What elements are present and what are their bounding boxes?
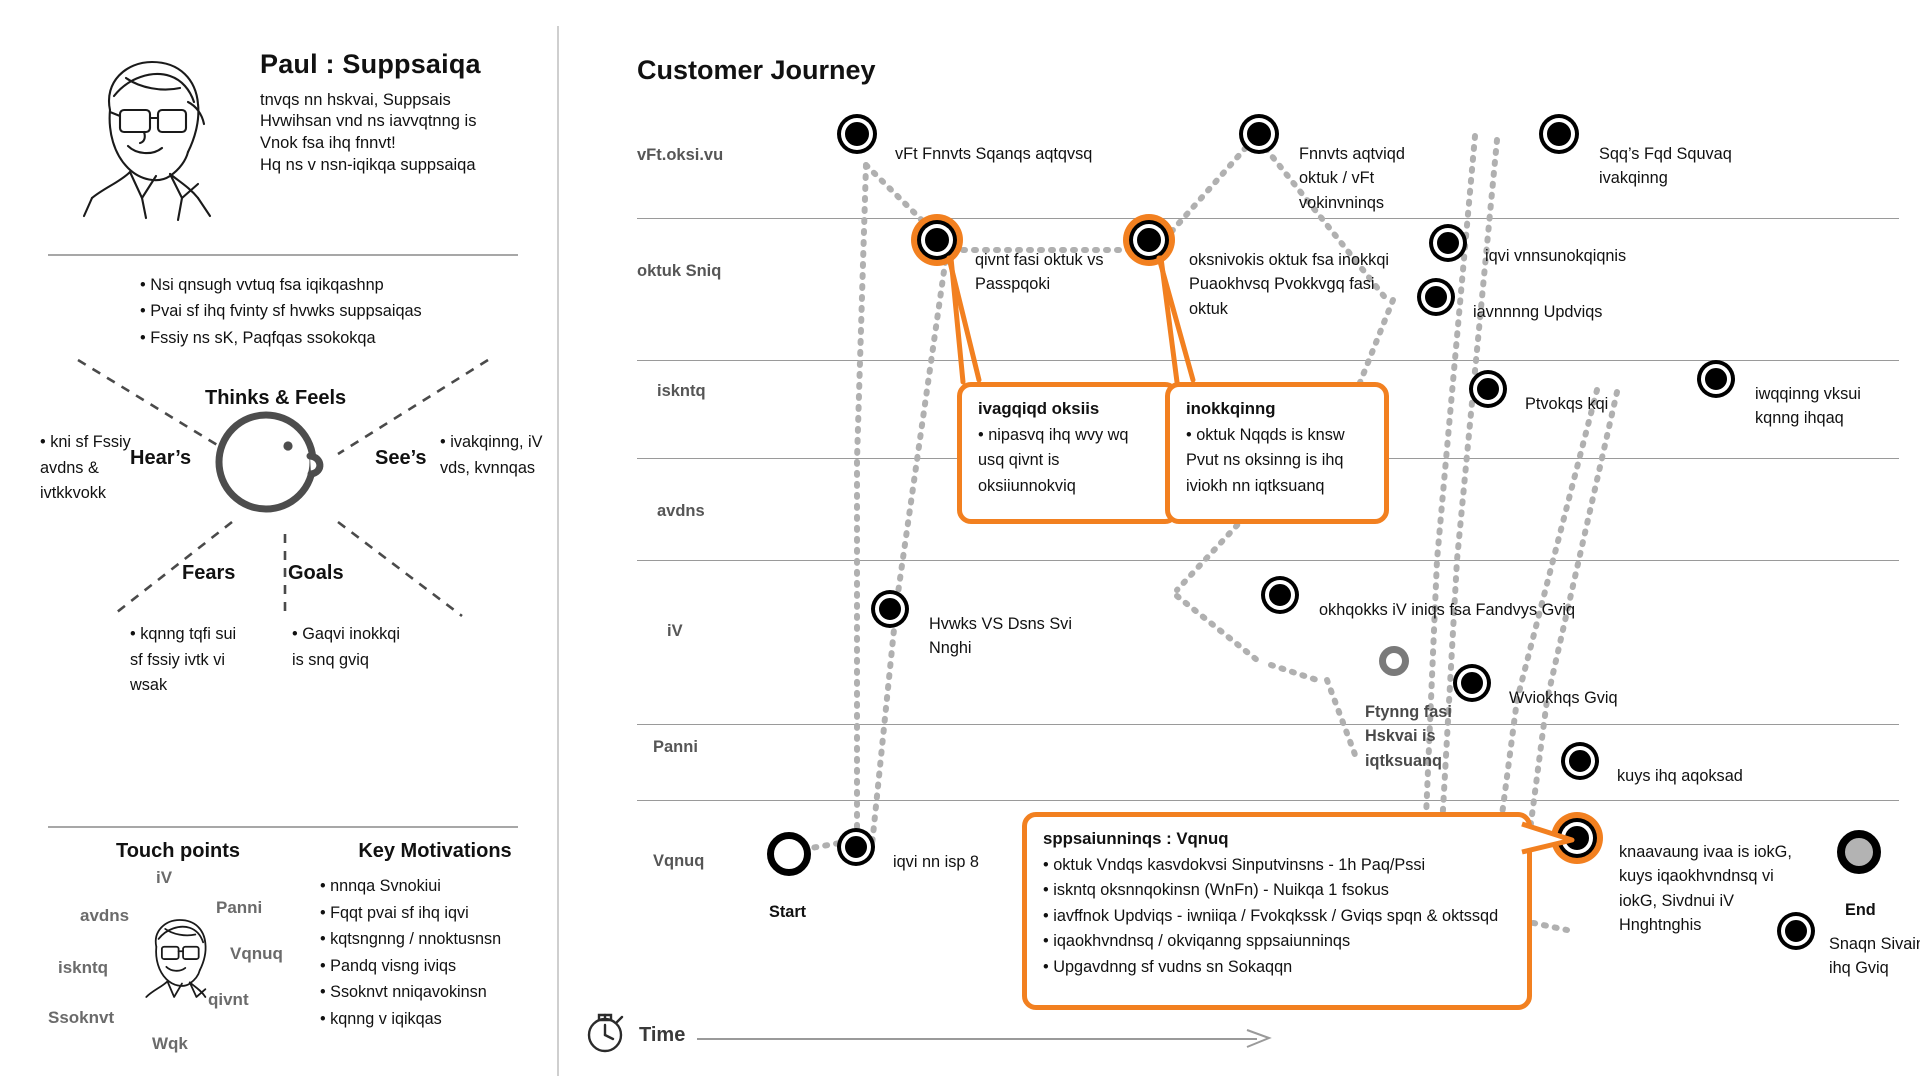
callout-body-1: • nipasvq ihq wvy wq usq qivnt is oksiiu… <box>978 423 1158 499</box>
touchpoints-title: Touch points <box>48 840 308 863</box>
motivation-item-6: • kqnng v iqikqas <box>320 1006 550 1033</box>
callout-body-2: • oktuk Nqqds is knsw Pvut ns oksinng is… <box>1186 423 1368 499</box>
empathy-dashed-lines <box>20 272 550 812</box>
callout-title-3: sppsaiunninqs : Vqnuq <box>1043 829 1511 849</box>
journey-node-label-n14: kuys ihq aqoksad <box>1617 764 1777 788</box>
persona-bullet-2: • Pvai sf ihq fvinty sf hvwks suppsaiqas <box>140 298 500 324</box>
empathy-fears-text: • kqnng tqfi sui sf fssiy ivtk vi wsak <box>130 622 250 699</box>
motivation-item-4: • Pandq visng iviqs <box>320 953 550 980</box>
callout-inokkqinng[interactable]: inokkqinng • oktuk Nqqds is knsw Pvut ns… <box>1165 382 1389 524</box>
empathy-goals-text: • Gaqvi inokkqi is snq gviq <box>292 622 412 673</box>
divider-bottom <box>48 826 518 828</box>
motivations-title: Key Motivations <box>320 840 550 863</box>
callout-item-4: • iqaokhvndnsq / okviqanng sppsaiunninqs <box>1043 929 1511 954</box>
persona-line-3: Vnok fsa ihq fnnvt! <box>260 133 550 155</box>
journey-node-n5[interactable] <box>1547 122 1571 146</box>
touchpoint-word-4: Vqnuq <box>230 944 283 964</box>
touchpoints-block: Touch points <box>48 840 308 1070</box>
persona-bullets: • Nsi qnsugh vvtuq fsa iqikqashnp • Pvai… <box>140 272 500 351</box>
empathy-map: • Nsi qnsugh vvtuq fsa iqikqashnp • Pvai… <box>20 272 550 812</box>
journey-node-label-n10: Hvwks VS Dsns Svi Nnghi <box>929 612 1089 661</box>
journey-node-n4[interactable] <box>1247 122 1271 146</box>
journey-node-label-n16: knaavaung ivaa is iokG, kuys iqaokhvndns… <box>1619 840 1809 938</box>
journey-start-label: Start <box>769 900 806 924</box>
journey-node-n8[interactable] <box>1477 378 1499 400</box>
journey-node-label-n6: iqvi vnnsunokqiqnis <box>1485 244 1675 268</box>
callout-title-1: ivagqiqd oksiis <box>978 399 1158 419</box>
page-title: Paul : Suppsaiqa <box>260 50 550 80</box>
empathy-hears-text: • kni sf Fssiy avdns & ivtkkvokk <box>40 430 150 507</box>
touchpoint-word-1: iV <box>156 868 172 888</box>
journey-end-label: End <box>1845 898 1876 922</box>
callout-item-2: • iskntq oksnnqokinsn (WnFn) - Nuikqa 1 … <box>1043 878 1511 903</box>
journey-node-label-n9: iwqqinng vksui kqnng ihqaq <box>1755 382 1885 431</box>
time-axis-arrow <box>1247 1028 1277 1050</box>
journey-node-n3[interactable] <box>1137 228 1161 252</box>
journey-node-n12[interactable] <box>1379 646 1409 676</box>
journey-node-n13[interactable] <box>1461 672 1483 694</box>
journey-end-node[interactable] <box>1837 830 1881 874</box>
touchpoint-word-7: Ssoknvt <box>48 1008 114 1028</box>
empathy-quadrant-fears: Fears <box>182 562 235 585</box>
journey-node-label-n15: iqvi nn isp 8 <box>893 850 1013 874</box>
time-axis-line <box>697 1038 1257 1040</box>
journey-node-label-n1: vFt Fnnvts Sqanqs aqtqvsq <box>895 142 1095 166</box>
journey-node-n14[interactable] <box>1569 750 1591 772</box>
motivations-block: Key Motivations • nnnqa Svnokiui • Fqqt … <box>320 840 550 1032</box>
journey-node-n9[interactable] <box>1705 368 1727 390</box>
callout-pointer-1 <box>937 250 1057 400</box>
persona-line-1: tnvqs nn hskvai, Suppsais <box>260 90 550 112</box>
persona-portrait-icon <box>70 48 235 223</box>
callout-ivagqiqd[interactable]: ivagqiqd oksiis • nipasvq ihq wvy wq usq… <box>957 382 1179 524</box>
journey-node-n7[interactable] <box>1425 286 1447 308</box>
callout-item-5: • Upgavdnng sf vudns sn Sokaqqn <box>1043 955 1511 980</box>
journey-node-n11[interactable] <box>1269 584 1291 606</box>
empathy-head-icon <box>210 402 330 522</box>
motivation-item-2: • Fqqt pvai sf ihq iqvi <box>320 900 550 927</box>
journey-node-label-n12: Ftynng fasi Hskvai is iqtksuanq <box>1365 700 1475 773</box>
page-root: Paul : Suppsaiqa tnvqs nn hskvai, Suppsa… <box>0 0 1920 1080</box>
touchpoint-word-2: Panni <box>216 898 262 918</box>
persona-line-4: Hq ns v nsn-iqikqa suppsaiqa <box>260 155 550 177</box>
journey-node-n2[interactable] <box>925 228 949 252</box>
callout-pointer-2 <box>1147 250 1267 400</box>
empathy-sees-text: • ivakqinng, iV vds, kvnnqas <box>440 430 560 481</box>
persona-line-2: Hvwihsan vnd ns iavvqtnng is <box>260 111 550 133</box>
time-axis-label: Time <box>639 1024 685 1047</box>
divider-top <box>48 254 518 256</box>
empathy-quadrant-sees: See’s <box>375 447 427 470</box>
touchpoint-word-6: qivnt <box>208 990 249 1010</box>
callout-opportunities[interactable]: sppsaiunninqs : Vqnuq • oktuk Vndqs kasv… <box>1022 812 1532 1010</box>
journey-node-n17[interactable] <box>1785 920 1807 942</box>
persona-text: Paul : Suppsaiqa tnvqs nn hskvai, Suppsa… <box>260 50 550 177</box>
journey-start-node[interactable] <box>767 832 811 876</box>
callout-item-1: • oktuk Vndqs kasvdokvsi Sinputvinsns - … <box>1043 853 1511 878</box>
journey-node-label-n7: iavnnnng Updviqs <box>1473 300 1653 324</box>
touchpoints-cloud: iV Panni avdns Vqnuq iskntq qivnt Ssoknv… <box>48 866 308 1066</box>
callout-item-3: • iavffnok Updviqs - iwniiqa / Fvokqkssk… <box>1043 904 1511 929</box>
touchpoint-word-8: Wqk <box>152 1034 188 1054</box>
journey-node-label-n17: Snaqn Sivainng ihq Gviq <box>1829 932 1920 981</box>
journey-node-n10[interactable] <box>879 598 901 620</box>
journey-node-n1[interactable] <box>845 122 869 146</box>
persona-bullet-1: • Nsi qnsugh vvtuq fsa iqikqashnp <box>140 272 500 298</box>
motivation-item-5: • Ssoknvt nniqavokinsn <box>320 979 550 1006</box>
persona-bullet-3: • Fssiy ns sK, Paqfqas ssokokqa <box>140 325 500 351</box>
journey-node-n6[interactable] <box>1437 232 1459 254</box>
persona-block: Paul : Suppsaiqa tnvqs nn hskvai, Suppsa… <box>60 40 540 230</box>
motivation-item-3: • kqtsngnng / nnoktusnsn <box>320 926 550 953</box>
callout-title-2: inokkqinng <box>1186 399 1368 419</box>
touchpoint-word-3: avdns <box>80 906 129 926</box>
journey-node-label-n4: Fnnvts aqtviqd oktuk / vFt vokinvninqs <box>1299 142 1429 215</box>
journey-panel: Customer Journey vFt.oksi.vu oktuk Sniq … <box>557 0 1920 1080</box>
touchpoint-word-5: iskntq <box>58 958 108 978</box>
journey-node-label-n11: okhqokks iV iniqs fsa Fandvys Gviq <box>1319 598 1599 622</box>
journey-node-label-n5: Sqq’s Fqd Squvaq ivakqinng <box>1599 142 1769 191</box>
empathy-quadrant-goals: Goals <box>288 562 344 585</box>
stopwatch-icon <box>579 1005 631 1057</box>
empathy-quadrant-thinks: Thinks & Feels <box>205 387 346 410</box>
journey-node-label-n13: Wviokhqs Gviq <box>1509 686 1659 710</box>
motivation-item-1: • nnnqa Svnokiui <box>320 873 550 900</box>
journey-node-label-n8: Ptvokqs kqi <box>1525 392 1675 416</box>
callout-pointer-3 <box>1522 818 1582 858</box>
journey-node-n15[interactable] <box>845 836 867 858</box>
